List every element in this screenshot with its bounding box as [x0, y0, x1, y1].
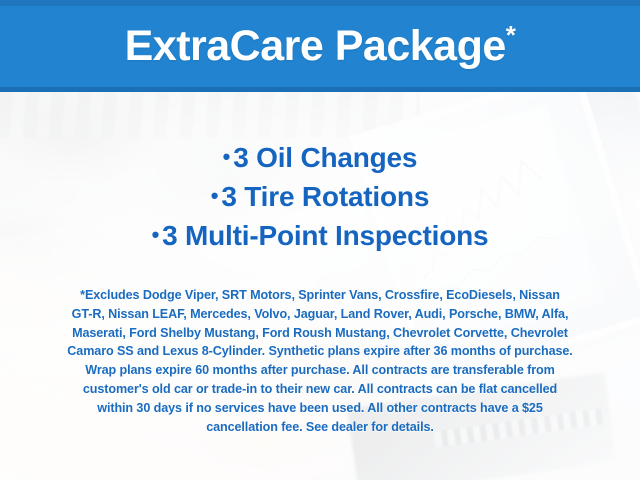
- benefits-list: •3 Oil Changes •3 Tire Rotations •3 Mult…: [0, 138, 640, 255]
- disclaimer-line: cancellation fee. See dealer for details…: [18, 418, 622, 437]
- page-title-text: ExtraCare Package: [125, 22, 506, 70]
- disclaimer-line: GT-R, Nissan LEAF, Mercedes, Volvo, Jagu…: [18, 305, 622, 324]
- disclaimer-line: customer's old car or trade-in to their …: [18, 380, 622, 399]
- benefit-label: 3 Oil Changes: [233, 142, 417, 173]
- disclaimer-line: within 30 days if no services have been …: [18, 399, 622, 418]
- list-item: •3 Multi-Point Inspections: [0, 216, 640, 255]
- bullet-icon: •: [223, 144, 231, 169]
- bullet-icon: •: [211, 183, 219, 208]
- disclaimer-line: *Excludes Dodge Viper, SRT Motors, Sprin…: [18, 286, 622, 305]
- benefit-label: 3 Tire Rotations: [221, 181, 429, 212]
- disclaimer-line: Maserati, Ford Shelby Mustang, Ford Rous…: [18, 324, 622, 343]
- disclaimer-text: *Excludes Dodge Viper, SRT Motors, Sprin…: [18, 286, 622, 436]
- disclaimer-line: Camaro SS and Lexus 8-Cylinder. Syntheti…: [18, 342, 622, 361]
- list-item: •3 Tire Rotations: [0, 177, 640, 216]
- bullet-icon: •: [152, 222, 160, 247]
- disclaimer-line: Wrap plans expire 60 months after purcha…: [18, 361, 622, 380]
- extracare-package-promo-card: ExtraCare Package* •3 Oil Changes •3 Tir…: [0, 0, 640, 480]
- list-item: •3 Oil Changes: [0, 138, 640, 177]
- benefit-label: 3 Multi-Point Inspections: [162, 220, 488, 251]
- title-asterisk: *: [506, 20, 516, 50]
- page-title: ExtraCare Package*: [125, 22, 516, 72]
- header-banner: ExtraCare Package*: [0, 0, 640, 92]
